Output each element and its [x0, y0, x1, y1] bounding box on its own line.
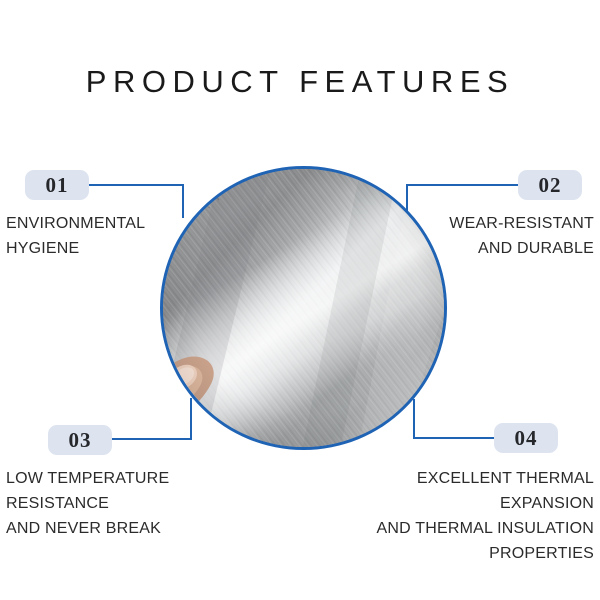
feature-badge-01[interactable]: 01 — [25, 170, 89, 200]
feature-text-03: LOW TEMPERATURE RESISTANCEAND NEVER BREA… — [6, 466, 276, 541]
feature-badge-04[interactable]: 04 — [494, 423, 558, 453]
brushed-steel-illustration — [161, 167, 447, 450]
page-title: PRODUCT FEATURES — [0, 64, 600, 100]
infographic-canvas: PRODUCT FEATURES — [0, 0, 600, 600]
product-image-circle — [160, 166, 447, 450]
feature-badge-02[interactable]: 02 — [518, 170, 582, 200]
feature-badge-03[interactable]: 03 — [48, 425, 112, 455]
feature-text-04: EXCELLENT THERMAL EXPANSIONAND THERMAL I… — [324, 466, 594, 566]
